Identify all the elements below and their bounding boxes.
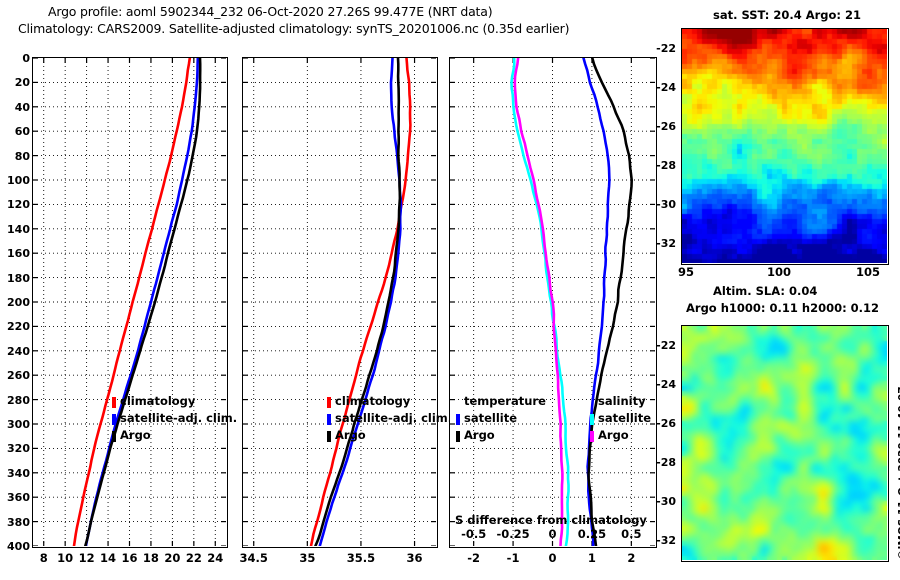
legend-color-swatch <box>112 397 116 408</box>
salinity-difference-axis-label: S difference from climatology <box>455 513 647 527</box>
axis-tick-label: 35 <box>285 553 329 565</box>
map-axis-tick-label: -24 <box>646 82 676 93</box>
legend-label: Argo <box>598 430 629 442</box>
legend-label: Argo <box>335 430 366 442</box>
axis-tick-label: 340 <box>0 468 30 479</box>
axis-tick-label: 20 <box>0 77 30 88</box>
legend-color-swatch <box>590 414 594 425</box>
legend-label: Argo <box>464 430 495 442</box>
axis-tick-label: 0 <box>531 529 575 541</box>
legend-label: satellite-adj. clim. <box>335 413 452 425</box>
axis-tick-label: 0.25 <box>570 529 614 541</box>
map-axis-tick-label: -22 <box>646 340 676 351</box>
axis-tick-label: 300 <box>0 419 30 430</box>
legend-label: satellite-adj. clim. <box>120 413 237 425</box>
axis-tick-label: 0 <box>0 53 30 64</box>
axis-tick-label: 120 <box>0 199 30 210</box>
sst-map-title: sat. SST: 20.4 Argo: 21 <box>713 8 861 22</box>
map-axis-tick-label: 95 <box>672 267 700 279</box>
axis-tick-label: 36 <box>393 553 437 565</box>
axis-tick-label: 140 <box>0 224 30 235</box>
map-axis-tick-label: -28 <box>646 160 676 171</box>
axis-tick-label: 200 <box>0 297 30 308</box>
sla-map-image <box>682 326 887 560</box>
axis-tick-label: 380 <box>0 517 30 528</box>
axis-tick-label: 400 <box>0 541 30 552</box>
legend-color-swatch <box>327 397 331 408</box>
sla-caption-line2: Argo h1000: 0.11 h2000: 0.12 <box>686 301 879 315</box>
legend-label: salinity <box>598 396 646 408</box>
salinity-profile-plot <box>243 58 436 546</box>
map-axis-tick-label: -32 <box>646 238 676 249</box>
map-axis-tick-label: -28 <box>646 457 676 468</box>
axis-tick-label: -0.5 <box>452 529 496 541</box>
legend-label: satellite <box>598 413 651 425</box>
legend-label: climatology <box>335 396 410 408</box>
axis-tick-label: 1 <box>570 553 614 565</box>
axis-tick-label: 2 <box>609 553 653 565</box>
axis-tick-label: 160 <box>0 248 30 259</box>
legend-color-swatch <box>456 431 460 442</box>
axis-tick-label: 240 <box>0 346 30 357</box>
axis-tick-label: 24 <box>193 553 237 565</box>
axis-tick-label: 260 <box>0 370 30 381</box>
axis-tick-label: 80 <box>0 151 30 162</box>
map-axis-tick-label: -24 <box>646 379 676 390</box>
axis-tick-label: 35.5 <box>339 553 383 565</box>
axis-tick-label: -1 <box>491 553 535 565</box>
legend-color-swatch <box>327 431 331 442</box>
legend-label: climatology <box>120 396 195 408</box>
map-axis-tick-label: -32 <box>646 535 676 546</box>
axis-tick-label: 34.5 <box>232 553 276 565</box>
axis-tick-label: 180 <box>0 273 30 284</box>
map-axis-tick-label: -26 <box>646 418 676 429</box>
difference-panel <box>449 57 657 548</box>
legend-color-swatch <box>327 414 331 425</box>
map-axis-tick-label: -26 <box>646 121 676 132</box>
map-axis-tick-label: 100 <box>765 267 793 279</box>
temperature-profile-panel <box>32 57 228 548</box>
axis-tick-label: 220 <box>0 321 30 332</box>
axis-tick-label: 0 <box>531 553 575 565</box>
map-axis-tick-label: 105 <box>854 267 882 279</box>
map-axis-tick-label: -30 <box>646 496 676 507</box>
legend-label: Argo <box>120 430 151 442</box>
axis-tick-label: 280 <box>0 395 30 406</box>
axis-tick-label: -0.25 <box>491 529 535 541</box>
legend-color-swatch <box>456 414 460 425</box>
axis-tick-label: 360 <box>0 492 30 503</box>
sst-map-panel <box>681 28 889 265</box>
axis-tick-label: -2 <box>452 553 496 565</box>
legend-color-swatch <box>112 414 116 425</box>
temperature-profile-plot <box>33 58 226 546</box>
legend-color-swatch <box>112 431 116 442</box>
axis-tick-label: 60 <box>0 126 30 137</box>
axis-tick-label: 100 <box>0 175 30 186</box>
axis-tick-label: 40 <box>0 102 30 113</box>
legend-color-swatch <box>590 431 594 442</box>
map-axis-tick-label: -30 <box>646 199 676 210</box>
difference-plot <box>450 58 655 546</box>
sst-map-image <box>682 29 887 263</box>
salinity-profile-panel <box>242 57 438 548</box>
axis-tick-label: 320 <box>0 443 30 454</box>
sla-map-panel <box>681 325 889 562</box>
map-axis-tick-label: -22 <box>646 43 676 54</box>
sla-caption-line1: Altim. SLA: 0.04 <box>713 284 817 298</box>
legend-label: satellite <box>464 413 517 425</box>
legend-label: temperature <box>464 396 546 408</box>
